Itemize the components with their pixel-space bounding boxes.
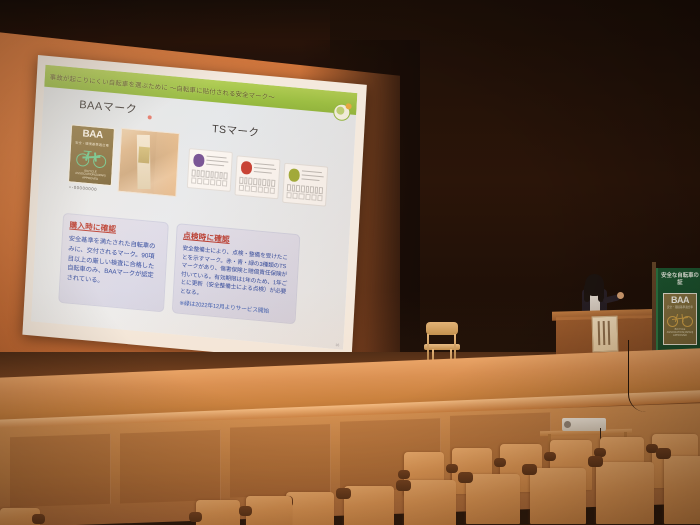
banner-logo-subtitle: 安全・環境基準適合車: [667, 305, 693, 309]
baa-serial-number: ○-00000000: [69, 184, 98, 192]
purchase-info-box: 購入時に確認 安全基準を満たされた自転車のみに、交付されるマーク。90項目以上の…: [58, 213, 169, 312]
projector-lens-icon: [564, 421, 571, 428]
slide-page-number: 16: [335, 343, 339, 347]
bicycle-icon: [76, 146, 107, 169]
banner-baa-logo: BAA 安全・環境基準適合車 BICYCLE ASSOCIATION(JAPAN…: [663, 293, 697, 345]
baa-mark-logo: BAA 安全・環境基準適合車 BICYCLE ASSOCIATION(JAPAN…: [68, 124, 115, 186]
podium-cable: [628, 340, 653, 412]
podium-sign: [592, 316, 619, 353]
ts-section-label: TSマーク: [212, 121, 260, 140]
banner-title: 安全な自転車の証: [661, 273, 699, 288]
presentation-slide: 事故が起こりにくい自転車を選ぶために ～自転車に貼付される安全マーク～ BAAマ…: [31, 65, 357, 350]
baa-section-label: BAAマーク: [79, 96, 138, 117]
ts-mark-blue: [187, 148, 233, 192]
banner-logo-title: BAA: [671, 296, 689, 305]
banner-bicycle-icon: [667, 311, 693, 327]
inspection-box-body: 安全整備士により、点検・整備を受けたことを示すマーク。赤・青・緑の3種類のTSマ…: [180, 245, 292, 306]
ts-mark-green: [282, 163, 328, 207]
laser-pointer-dot: [148, 115, 152, 119]
association-logo-icon: [333, 101, 351, 125]
projection-screen: 事故が起こりにくい自転車を選ぶために ～自転車に貼付される安全マーク～ BAAマ…: [22, 55, 366, 364]
auditorium-photo: 事故が起こりにくい自転車を選ぶために ～自転車に貼付される安全マーク～ BAAマ…: [0, 0, 700, 525]
inspection-info-box: 点検時に確認 安全整備士により、点検・整備を受けたことを示すマーク。赤・青・緑の…: [172, 223, 301, 324]
purchase-box-body: 安全基準を満たされた自転車のみに、交付されるマーク。90項目以上の厳しい検査に合…: [66, 234, 160, 291]
baa-logo-footer: BICYCLE ASSOCIATION(JAPAN) APPROVED: [69, 168, 112, 184]
banner-logo-footer: BICYCLE ASSOCIATION(JAPAN) APPROVED: [664, 328, 696, 338]
ts-mark-red: [234, 155, 280, 199]
bicycle-frame-photo: [117, 128, 179, 197]
